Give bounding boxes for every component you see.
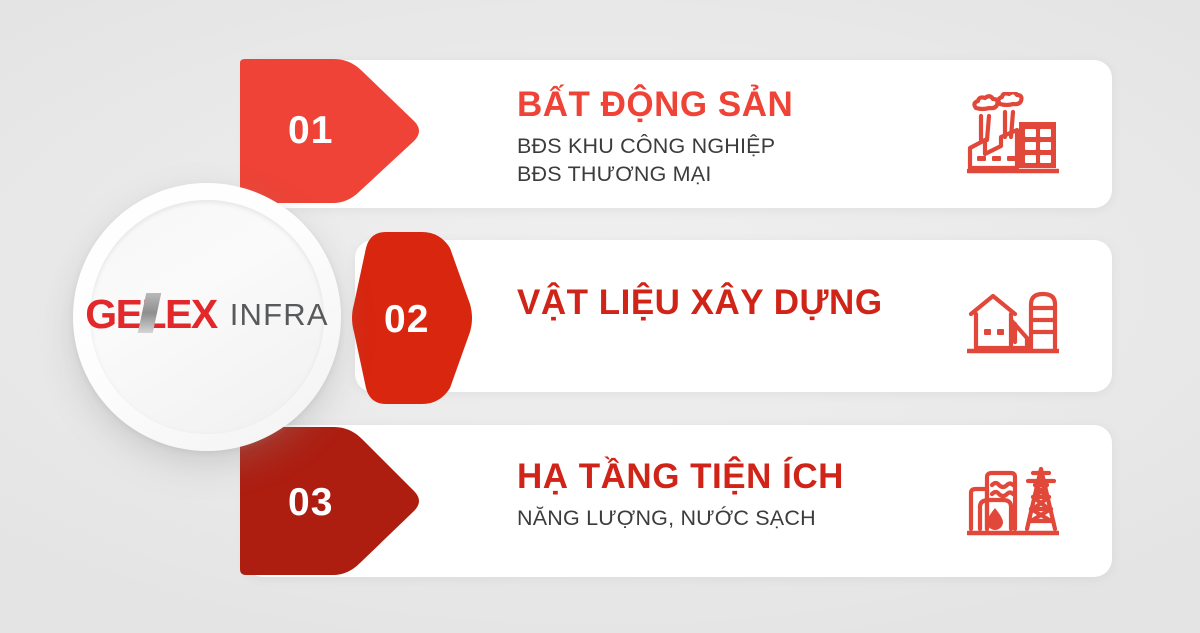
logo-lockup: GELEX INFRA (73, 291, 341, 338)
factory-icon (967, 92, 1059, 174)
logo-gelex-wordmark: GELEX (85, 291, 216, 338)
infographic-stage: BẤT ĐỘNG SẢN BĐS KHU CÔNG NGHIỆP BĐS THƯ… (0, 0, 1200, 633)
pillar-badge-2[interactable]: 02 (348, 228, 476, 408)
logo-suffix-text: INFRA (230, 297, 329, 333)
brand-logo-circle[interactable]: GELEX INFRA (73, 183, 341, 451)
utilities-power-water-icon (967, 463, 1059, 538)
cement-plant-icon (967, 284, 1059, 356)
badge-2-shape (348, 228, 476, 408)
